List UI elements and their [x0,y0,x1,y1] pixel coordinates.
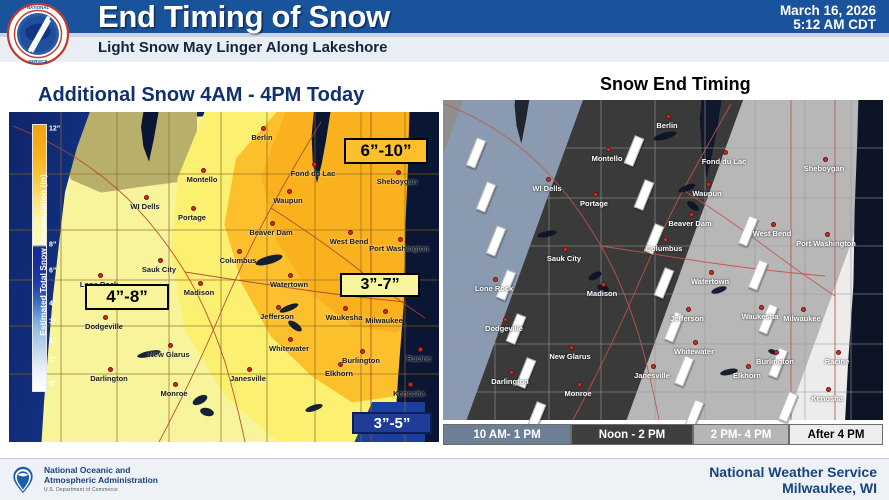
city-label: Portage [178,213,206,222]
city-marker-dot [686,307,691,312]
city-marker-dot [666,114,671,119]
issue-time: 5:12 AM CDT [793,17,876,32]
city-label: Beaver Dam [668,219,711,228]
city-label: Darlington [491,377,529,386]
city-label: Milwaukee [365,316,403,325]
legend-segment: 2 PM- 4 PM [693,424,789,445]
page-title: End Timing of Snow [98,0,390,35]
city-marker-dot [709,270,714,275]
city-label: Janesville [634,371,670,380]
city-label: Darlington [90,374,128,383]
city-label: Kenosha [393,389,425,398]
city-label: WI Dells [130,202,159,211]
city-label: Lone Rock [475,284,513,293]
city-marker-dot [774,350,779,355]
city-marker-dot [546,177,551,182]
snow-end-timing-legend: 10 AM- 1 PMNoon - 2 PM2 PM- 4 PMAfter 4 … [443,424,883,445]
city-label: Waukesha [742,312,779,321]
city-label: Madison [184,288,214,297]
footer-nws-office: National Weather Service [709,464,877,480]
city-marker-dot [836,350,841,355]
snow-accumulation-colorbar: Estimated Total Snow Accumulation (in) 1… [12,118,58,408]
snow-amount-callout: 3”-5” [352,412,432,434]
city-label: Beaver Dam [249,228,292,237]
city-label: Whitewater [269,344,309,353]
city-marker-dot [606,147,611,152]
colorbar-tick-label: 12” [49,126,60,133]
city-marker-dot [563,247,568,252]
national-weather-service-seal-icon: NATIONAL SERVICE [6,2,70,66]
city-marker-dot [601,282,606,287]
snow-amount-callout: 3”-7” [340,273,420,297]
page-footer: National Oceanic and Atmospheric Adminis… [0,458,889,500]
city-marker-dot [158,258,163,263]
city-marker-dot [343,306,348,311]
city-marker-dot [201,168,206,173]
city-marker-dot [276,305,281,310]
colorbar-tick-label: 1” [49,356,56,363]
city-label: Fond du Lac [291,169,336,178]
city-label: Port Washington [369,244,429,253]
city-marker-dot [723,150,728,155]
city-label: Columbus [220,256,257,265]
city-marker-dot [261,126,266,131]
noaa-line-1: National Oceanic and [44,465,158,475]
city-marker-dot [706,182,711,187]
city-label: Dodgeville [85,322,123,331]
legend-segment: After 4 PM [789,424,883,445]
city-label: Waupun [692,189,721,198]
city-marker-dot [191,206,196,211]
city-label: Madison [587,289,617,298]
city-marker-dot [198,281,203,286]
city-label: Milwaukee [783,314,821,323]
noaa-department-line: U.S. Department of Commerce [44,487,118,493]
city-marker-dot [493,277,498,282]
colorbar-tick-label: 0” [49,380,56,387]
snow-amount-callout: 4”-8” [85,284,169,310]
page-subtitle: Light Snow May Linger Along Lakeshore [98,39,387,56]
city-label: Racine [825,357,850,366]
city-label: Janesville [230,374,266,383]
city-label: Sheboygan [377,177,417,186]
city-marker-dot [98,273,103,278]
city-label: West Bend [330,237,369,246]
city-marker-dot [569,345,574,350]
city-label: Whitewater [674,347,714,356]
city-marker-dot [247,367,252,372]
city-label: Burlington [756,357,794,366]
city-label: Waupun [273,196,302,205]
city-label: Sauk City [142,265,176,274]
city-marker-dot [173,382,178,387]
city-label: West Bend [753,229,792,238]
city-marker-dot [503,317,508,322]
legend-segment: Noon - 2 PM [571,424,693,445]
colorbar-tick-label: 4” [49,300,56,307]
city-label: Port Washington [796,239,856,248]
right-map-title: Snow End Timing [600,74,751,95]
city-label: Portage [580,199,608,208]
city-marker-dot [398,237,403,242]
city-marker-dot [663,237,668,242]
city-marker-dot [693,340,698,345]
city-marker-dot [270,221,275,226]
city-label: Sauk City [547,254,581,263]
legend-segment: 10 AM- 1 PM [443,424,571,445]
city-marker-dot [108,367,113,372]
city-marker-dot [408,382,413,387]
city-marker-dot [360,349,365,354]
city-marker-dot [826,387,831,392]
city-marker-dot [771,222,776,227]
city-marker-dot [509,370,514,375]
city-label: Racine [407,354,432,363]
city-label: Berlin [251,133,272,142]
city-label: Monroe [160,389,187,398]
city-marker-dot [103,315,108,320]
city-label: Columbus [646,244,683,253]
snow-amount-callout: 6”-10” [344,138,428,164]
city-marker-dot [144,195,149,200]
city-marker-dot [759,305,764,310]
city-label: Montello [592,154,623,163]
city-label: Elkhorn [325,369,353,378]
city-marker-dot [288,273,293,278]
city-label: Sheboygan [804,164,844,173]
issue-date: March 16, 2026 [780,3,876,18]
city-label: Dodgeville [485,324,523,333]
city-label: Montello [187,175,218,184]
footer-nws-city: Milwaukee, WI [782,480,877,496]
city-label: Elkhorn [733,371,761,380]
city-marker-dot [651,364,656,369]
svg-text:NATIONAL: NATIONAL [27,5,50,10]
colorbar-tick-label: 2” [49,338,56,345]
city-label: Jefferson [260,312,294,321]
city-marker-dot [593,192,598,197]
city-label: Waukesha [326,313,363,322]
city-label: New Glarus [148,350,189,359]
city-marker-dot [418,347,423,352]
city-label: Watertown [270,280,308,289]
noaa-agency-name: National Oceanic and Atmospheric Adminis… [44,465,158,485]
city-marker-dot [823,157,828,162]
city-marker-dot [746,364,751,369]
city-label: Jefferson [670,314,704,323]
colorbar-tick-label: 6” [49,268,56,275]
city-marker-dot [825,232,830,237]
city-label: Kenosha [811,394,843,403]
city-marker-dot [801,307,806,312]
city-marker-dot [383,309,388,314]
svg-text:SERVICE: SERVICE [28,59,47,64]
colorbar-tick-label: 3” [49,319,56,326]
city-label: Burlington [342,356,380,365]
footer-divider [0,458,889,459]
colorbar-axis-title: Estimated Total Snow Accumulation (in) [38,140,48,370]
city-label: Monroe [564,389,591,398]
city-marker-dot [312,162,317,167]
colorbar-tick-label: 8” [49,241,56,248]
city-marker-dot [396,170,401,175]
noaa-line-2: Atmospheric Administration [44,475,158,485]
city-marker-dot [348,230,353,235]
city-label: WI Dells [532,184,561,193]
left-map-title: Additional Snow 4AM - 4PM Today [38,84,364,107]
city-marker-dot [689,212,694,217]
city-label: Watertown [691,277,729,286]
page-header: NATIONAL SERVICE End Timing of Snow Ligh… [0,0,889,62]
city-marker-dot [287,189,292,194]
noaa-logo-icon [9,466,37,494]
city-marker-dot [168,343,173,348]
city-marker-dot [237,249,242,254]
city-label: Fond du Lac [702,157,747,166]
city-marker-dot [288,337,293,342]
city-label: New Glarus [549,352,590,361]
city-label: Berlin [656,121,677,130]
city-marker-dot [577,382,582,387]
